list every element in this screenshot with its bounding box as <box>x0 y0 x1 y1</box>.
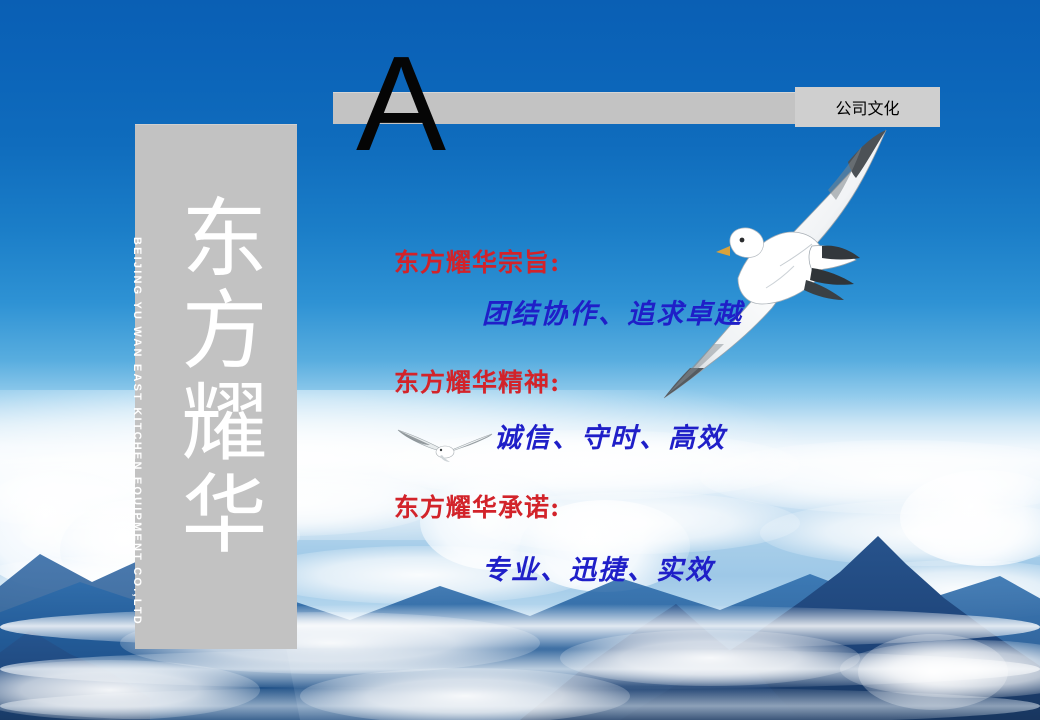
culture-heading-purpose: 东方耀华宗旨: <box>394 243 560 279</box>
culture-heading-promise: 东方耀华承诺: <box>394 488 560 524</box>
culture-text-block: 东方耀华宗旨: 团结协作、追求卓越 东方耀华精神: 诚信、守时、高效 东方耀华承… <box>0 0 1040 720</box>
presentation-slide: BEIJING YU WAN EAST KITCHEN EQUIPMENT CO… <box>0 0 1040 720</box>
culture-body-spirit: 诚信、守时、高效 <box>494 416 726 455</box>
culture-body-purpose: 团结协作、追求卓越 <box>482 292 743 331</box>
culture-heading-spirit: 东方耀华精神: <box>394 363 560 399</box>
culture-body-promise: 专业、迅捷、实效 <box>482 548 714 587</box>
